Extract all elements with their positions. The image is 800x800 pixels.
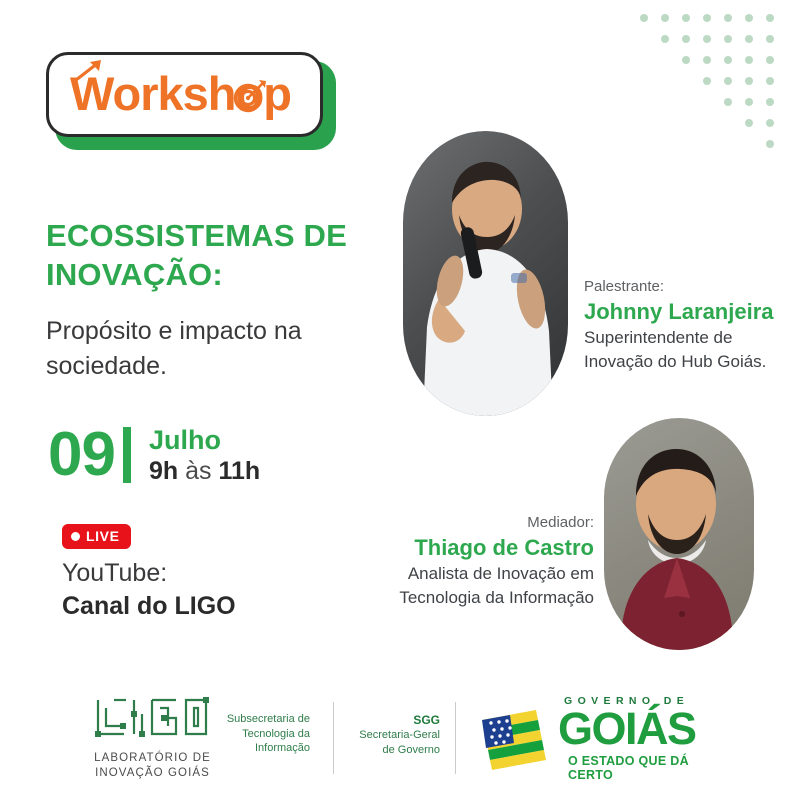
page-title: ECOSSISTEMAS DE INOVAÇÃO: (46, 216, 376, 294)
decorative-dot (766, 98, 774, 106)
ligo-monogram-icon (90, 694, 215, 742)
decorative-dot (724, 35, 732, 43)
decorative-dot (703, 56, 711, 64)
sgg-line2: de Governo (330, 743, 440, 758)
sgg-line1: Secretaria-Geral (330, 728, 440, 743)
live-dot-icon (71, 532, 80, 541)
live-label: LIVE (86, 528, 120, 544)
mediator-description-line2: Tecnologia da Informação (366, 586, 594, 610)
decorative-dot (745, 14, 753, 22)
decorative-dot (703, 77, 711, 85)
decorative-dot (703, 35, 711, 43)
ligo-logo: LABORATÓRIO DE INOVAÇÃO GOIÁS (90, 694, 215, 781)
decorative-dot (640, 14, 648, 22)
goias-slogan: O ESTADO QUE DÁ CERTO (568, 754, 718, 782)
sgg-logo: SGG Secretaria-Geral de Governo (330, 712, 440, 757)
event-month: Julho (149, 425, 260, 456)
event-day: 09 (48, 424, 115, 486)
decorative-dot (682, 35, 690, 43)
decorative-dot (724, 14, 732, 22)
live-badge: LIVE (62, 524, 131, 549)
decorative-dot-grid (640, 14, 800, 174)
ligo-wordmark: LABORATÓRIO DE INOVAÇÃO GOIÁS (90, 751, 215, 781)
decorative-dot (661, 35, 669, 43)
governo-goias-logo: GOVERNO DE GOIÁS O ESTADO QUE DÁ CERTO (478, 694, 718, 774)
subsecretaria-line2: Tecnologia da (200, 727, 310, 742)
decorative-dot (724, 77, 732, 85)
mediator-name: Thiago de Castro (366, 533, 594, 562)
channel-name: Canal do LIGO (62, 590, 236, 622)
decorative-dot (745, 77, 753, 85)
decorative-dot (724, 98, 732, 106)
decorative-dot (745, 56, 753, 64)
speaker-photo-johnny (403, 131, 568, 416)
mediator-photo-thiago (604, 418, 754, 650)
speaker-info-johnny: Palestrante: Johnny Laranjeira Superinte… (584, 276, 794, 374)
decorative-dot (724, 56, 732, 64)
decorative-dot (682, 56, 690, 64)
mediator-description-line1: Analista de Inovação em (366, 562, 594, 586)
workshop-promo-poster: Workshop ECOSSISTEMAS DE INOVAÇÃO: Propó… (0, 0, 800, 800)
workshop-logo: Workshop (46, 52, 336, 150)
decorative-dot (766, 119, 774, 127)
subsecretaria-line1: Subsecretaria de (200, 712, 310, 727)
decorative-dot (766, 140, 774, 148)
decorative-dot (766, 35, 774, 43)
decorative-dot (682, 14, 690, 22)
decorative-dot (661, 14, 669, 22)
goias-flag-icon (478, 702, 560, 776)
footer-divider-2 (455, 702, 456, 774)
mediator-info-thiago: Mediador: Thiago de Castro Analista de I… (366, 512, 594, 610)
speaker-description-line1: Superintendente de (584, 326, 794, 350)
sgg-acronym: SGG (330, 712, 440, 728)
event-date-block: 09 Julho 9h às 11h (48, 424, 260, 486)
platform-label: YouTube: (62, 557, 167, 589)
decorative-dot (766, 77, 774, 85)
event-time-connector: às (185, 457, 211, 485)
decorative-dot (766, 56, 774, 64)
speaker-figure (403, 131, 568, 416)
mediator-role-label: Mediador: (366, 512, 594, 533)
decorative-dot (745, 35, 753, 43)
speaker-name: Johnny Laranjeira (584, 297, 794, 326)
speaker-role-label: Palestrante: (584, 276, 794, 297)
goias-wordmark: GOIÁS (558, 704, 696, 754)
subsecretaria-line3: Informação (200, 741, 310, 756)
speaker-description-line2: Inovação do Hub Goiás. (584, 350, 794, 374)
date-divider (123, 427, 131, 483)
event-time-end: 11h (218, 457, 260, 485)
target-dart-icon (232, 78, 268, 114)
subsecretaria-label: Subsecretaria de Tecnologia da Informaçã… (200, 712, 310, 756)
decorative-dot (745, 98, 753, 106)
ligo-name-line1: LABORATÓRIO DE (90, 751, 215, 766)
event-time: 9h às 11h (149, 456, 260, 486)
decorative-dot (766, 14, 774, 22)
event-time-start: 9h (149, 457, 178, 485)
ligo-name-line2: INOVAÇÃO GOIÁS (90, 766, 215, 781)
footer-logos: LABORATÓRIO DE INOVAÇÃO GOIÁS Subsecreta… (0, 686, 800, 786)
decorative-dot (703, 14, 711, 22)
decorative-dot (745, 119, 753, 127)
page-subtitle: Propósito e impacto na sociedade. (46, 314, 376, 384)
mediator-figure (604, 418, 754, 650)
